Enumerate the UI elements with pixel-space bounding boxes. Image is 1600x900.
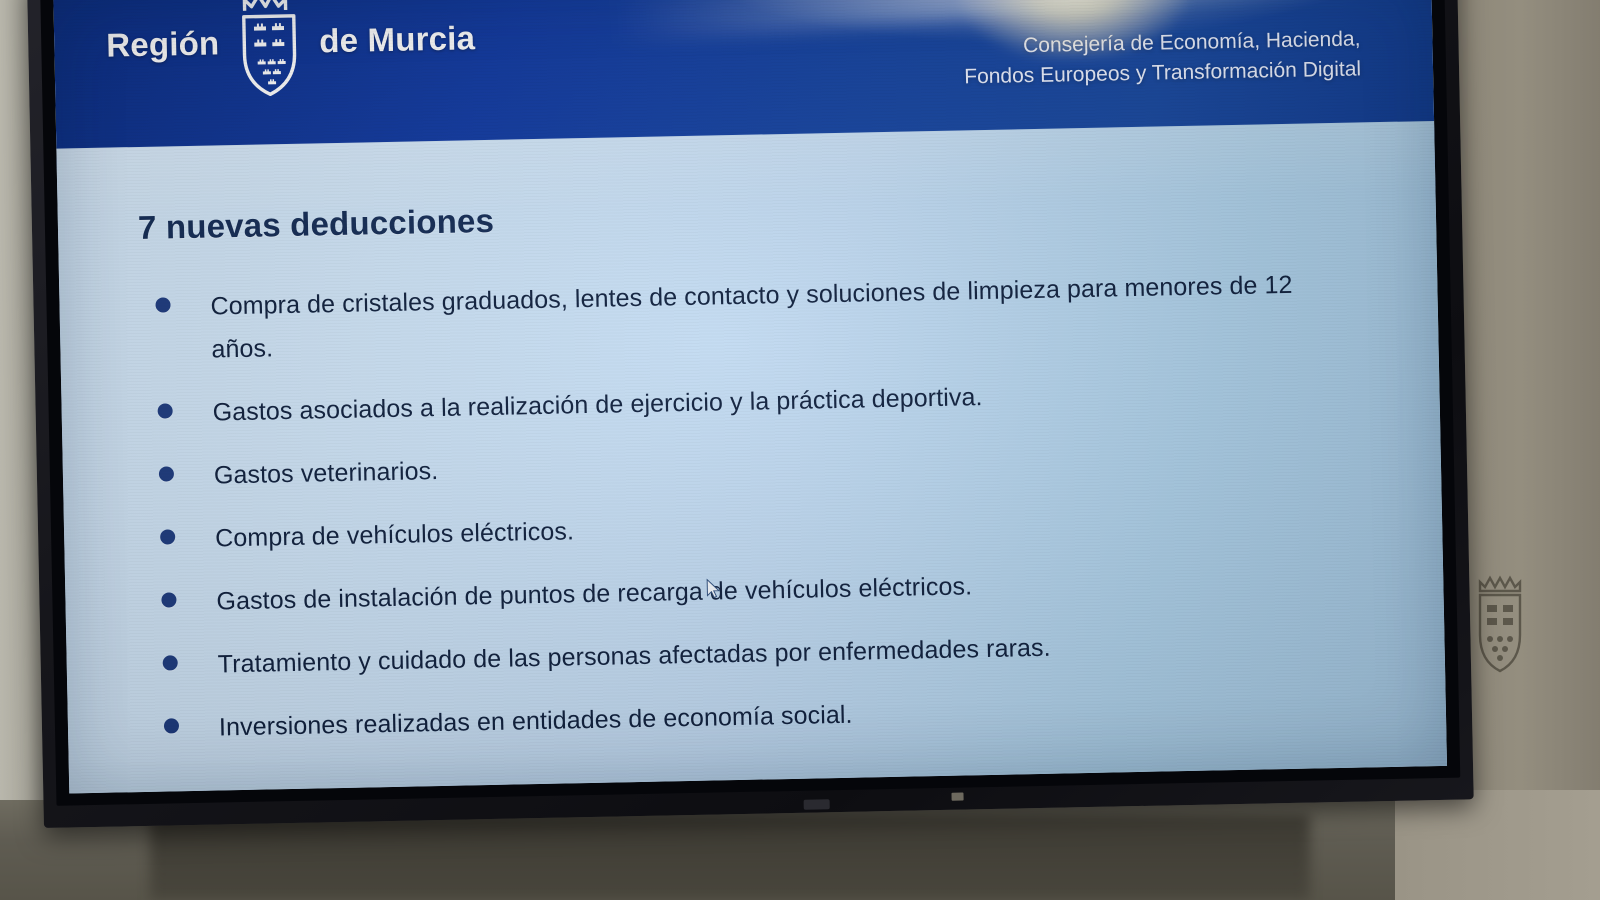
- list-item: Compra de cristales graduados, lentes de…: [155, 262, 1398, 373]
- list-item: Inversiones realizadas en entidades de e…: [164, 683, 1407, 751]
- bullet-dot-icon: [158, 403, 173, 418]
- list-item: Compra de vehículos eléctricos.: [160, 494, 1403, 562]
- list-item-label: Gastos asociados a la realización de eje…: [212, 376, 983, 434]
- list-item: Gastos de instalación de puntos de recar…: [161, 557, 1404, 625]
- list-item-label: Tratamiento y cuidado de las personas af…: [217, 627, 1051, 687]
- bullet-dot-icon: [161, 592, 176, 607]
- bullet-dot-icon: [159, 466, 174, 481]
- presentation-slide: Región: [53, 0, 1447, 793]
- slide-title: 7 nuevas deducciones: [138, 202, 495, 247]
- television: Región: [27, 0, 1474, 828]
- room-background: Región: [0, 0, 1600, 900]
- murcia-coat-of-arms-icon: [1470, 565, 1530, 680]
- wall-bottom-right-panel: [1395, 790, 1600, 900]
- department-title: Consejería de Economía, Hacienda, Fondos…: [963, 24, 1361, 93]
- logo-word-de-murcia: de Murcia: [319, 19, 476, 60]
- deductions-list: Compra de cristales graduados, lentes de…: [155, 262, 1406, 771]
- list-item: Gastos asociados a la realización de eje…: [157, 368, 1400, 436]
- logo-word-region: Región: [106, 24, 220, 64]
- tv-brand-badge: [951, 793, 963, 801]
- list-item-label: Gastos veterinarios.: [214, 450, 439, 497]
- bullet-dot-icon: [164, 718, 179, 733]
- murcia-coat-of-arms-icon: [232, 0, 306, 99]
- list-item-label: Compra de vehículos eléctricos.: [215, 510, 575, 560]
- bullet-dot-icon: [155, 297, 170, 312]
- list-item: Gastos veterinarios.: [159, 431, 1402, 499]
- bullet-dot-icon: [160, 529, 175, 544]
- list-item-label: Inversiones realizadas en entidades de e…: [219, 694, 853, 750]
- ir-sensor-icon: [804, 799, 830, 810]
- murcia-logo: Región: [105, 0, 476, 102]
- list-item-label: Compra de cristales graduados, lentes de…: [210, 263, 1312, 371]
- bullet-dot-icon: [163, 655, 178, 670]
- slide-body: 7 nuevas deducciones Compra de cristales…: [56, 121, 1447, 794]
- wall-shadow: [150, 815, 1310, 900]
- list-item-label: Gastos de instalación de puntos de recar…: [216, 565, 972, 623]
- wall-right-panel: [1468, 0, 1600, 900]
- screen-display: Región: [53, 0, 1447, 793]
- list-item: Tratamiento y cuidado de las personas af…: [162, 620, 1405, 688]
